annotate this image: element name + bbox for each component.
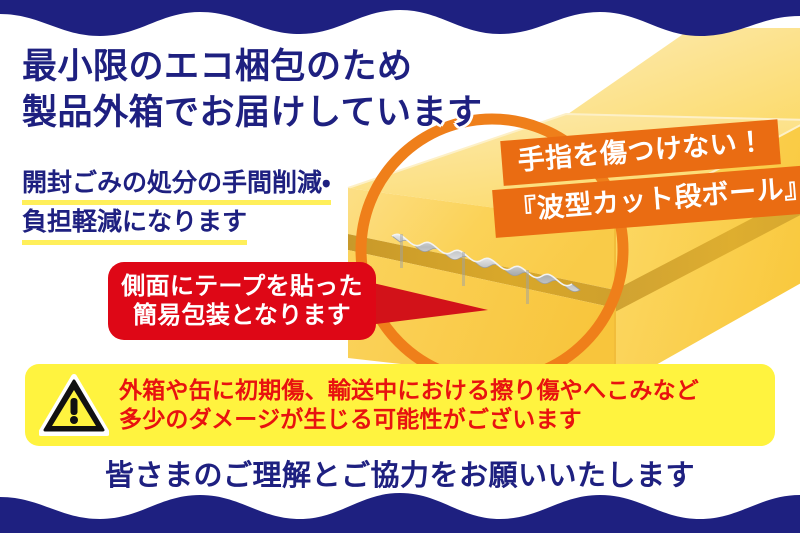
pointer-arrow-icon — [360, 270, 490, 334]
page-title: 最小限のエコ梱包のため 製品外箱でお届けしています — [22, 44, 482, 135]
closing-message: 皆さまのご理解とご協力をお願いいたします — [0, 452, 800, 494]
sub-headline: 開封ごみの処分の手間削減・ 負担軽減になります — [22, 165, 331, 244]
warning-line-1: 外箱や缶に初期傷、輸送中における擦り傷やへこみなど — [119, 376, 699, 405]
red-callout-line-1: 側面にテープを貼った — [121, 272, 363, 301]
subheadline-line-2: 負担軽減になります — [22, 204, 247, 243]
warning-text-block: 外箱や缶に初期傷、輸送中における擦り傷やへこみなど 多少のダメージが生じる可能性… — [119, 376, 699, 434]
warning-triangle-icon — [39, 374, 109, 436]
damage-warning-box: 外箱や缶に初期傷、輸送中における擦り傷やへこみなど 多少のダメージが生じる可能性… — [25, 364, 775, 446]
headline-line-1: 最小限のエコ梱包のため — [22, 44, 482, 90]
eco-packaging-notice-banner: 最小限のエコ梱包のため 製品外箱でお届けしています 開封ごみの処分の手間削減・ … — [0, 0, 800, 533]
headline-line-2: 製品外箱でお届けしています — [22, 90, 482, 136]
side-tape-callout: 側面にテープを貼った 簡易包装となります — [108, 262, 376, 340]
subheadline-line-1: 開封ごみの処分の手間削減・ — [22, 165, 331, 204]
warning-line-2: 多少のダメージが生じる可能性がございます — [119, 405, 699, 434]
red-callout-line-2: 簡易包装となります — [133, 301, 351, 330]
